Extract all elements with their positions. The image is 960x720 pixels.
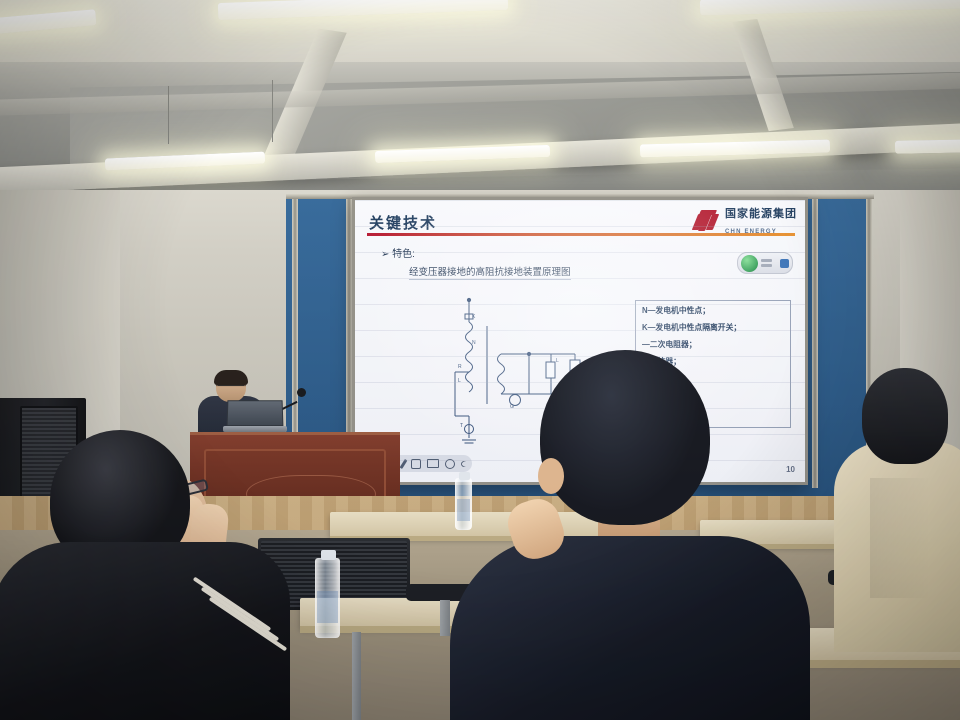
person-ear	[538, 458, 564, 494]
wall-trim	[812, 198, 818, 488]
bottle-cap	[321, 550, 336, 560]
laptop-screen	[227, 400, 284, 426]
person-head	[540, 350, 710, 525]
device-labels	[761, 259, 777, 267]
equipment-photo	[737, 252, 793, 274]
bottle-cap	[459, 472, 470, 480]
black-striped-jacket	[0, 542, 290, 720]
chn-energy-logo: 国家能源集团 CHN ENERGY	[695, 205, 797, 237]
chn-energy-logo-icon	[695, 210, 721, 232]
bottle-label	[457, 499, 470, 521]
legend-line: N—发电机中性点；	[642, 305, 710, 316]
svg-text:L: L	[458, 378, 461, 384]
logo-text-en: CHN ENERGY	[725, 229, 777, 235]
jacket-stripe	[193, 577, 272, 632]
slides-icon[interactable]	[427, 459, 439, 468]
light-hanger	[168, 86, 169, 144]
chevron-left-icon[interactable]	[460, 459, 468, 467]
audience-person-left	[0, 430, 320, 720]
audience-person-right	[840, 368, 960, 720]
zoom-icon[interactable]	[411, 459, 421, 469]
chair-post	[440, 600, 450, 636]
svg-text:R: R	[458, 364, 462, 370]
conference-room-scene: 关键技术 国家能源集团 CHN ENERGY ➢ 特色: 经变压器接地的高阻抗接…	[0, 0, 960, 720]
navy-jacket	[450, 536, 810, 720]
coat-fold	[870, 478, 930, 598]
presenter-laptop	[223, 400, 287, 434]
pen-icon[interactable]	[400, 458, 408, 468]
slide-title: 关键技术	[369, 212, 437, 233]
slide-bullet: ➢ 特色:	[381, 245, 415, 260]
ceiling	[0, 0, 960, 200]
bottle-label	[317, 591, 338, 623]
device-button-icon	[780, 259, 789, 268]
presenter-glasses-icon	[218, 385, 244, 390]
logo-text-cn: 国家能源集团	[725, 208, 797, 220]
desk-leg	[352, 632, 361, 720]
presenter-hair	[214, 370, 248, 385]
person-head	[862, 368, 948, 464]
jacket-stripe	[201, 587, 280, 642]
legend-line: —二次电阻器；	[642, 339, 697, 350]
jacket-stripe	[209, 597, 288, 652]
light-hanger	[272, 80, 273, 142]
microphone-head	[297, 388, 306, 397]
audience-person-center	[470, 350, 810, 720]
legend-line: K—发电机中性点隔离开关；	[642, 322, 741, 333]
svg-text:N: N	[472, 340, 476, 346]
green-indicator-icon	[741, 255, 758, 272]
slide-subheading: 经变压器接地的高阻抗接地装置原理图	[409, 264, 571, 280]
svg-text:K: K	[472, 314, 476, 320]
more-icon[interactable]	[445, 459, 455, 469]
svg-text:T: T	[460, 423, 463, 429]
ceiling-light	[895, 139, 960, 154]
